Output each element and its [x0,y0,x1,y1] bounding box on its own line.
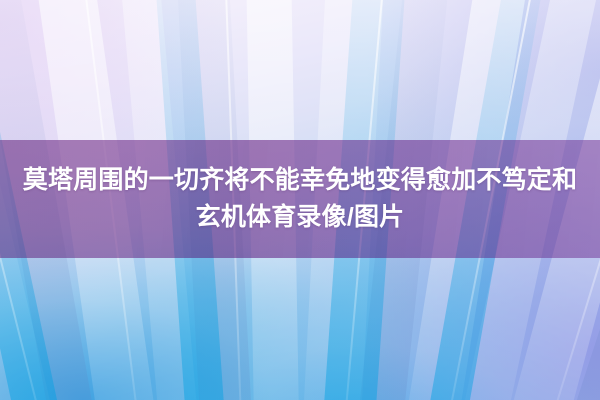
caption-line-1: 莫塔周围的一切齐将不能幸免地变得愈加不笃定和 [23,164,577,197]
banner-caption: 莫塔周围的一切齐将不能幸免地变得愈加不笃定和 玄机体育录像/图片 [0,140,600,258]
caption-line-2: 玄机体育录像/图片 [196,201,405,234]
banner-image: 莫塔周围的一切齐将不能幸免地变得愈加不笃定和 玄机体育录像/图片 [0,0,600,400]
